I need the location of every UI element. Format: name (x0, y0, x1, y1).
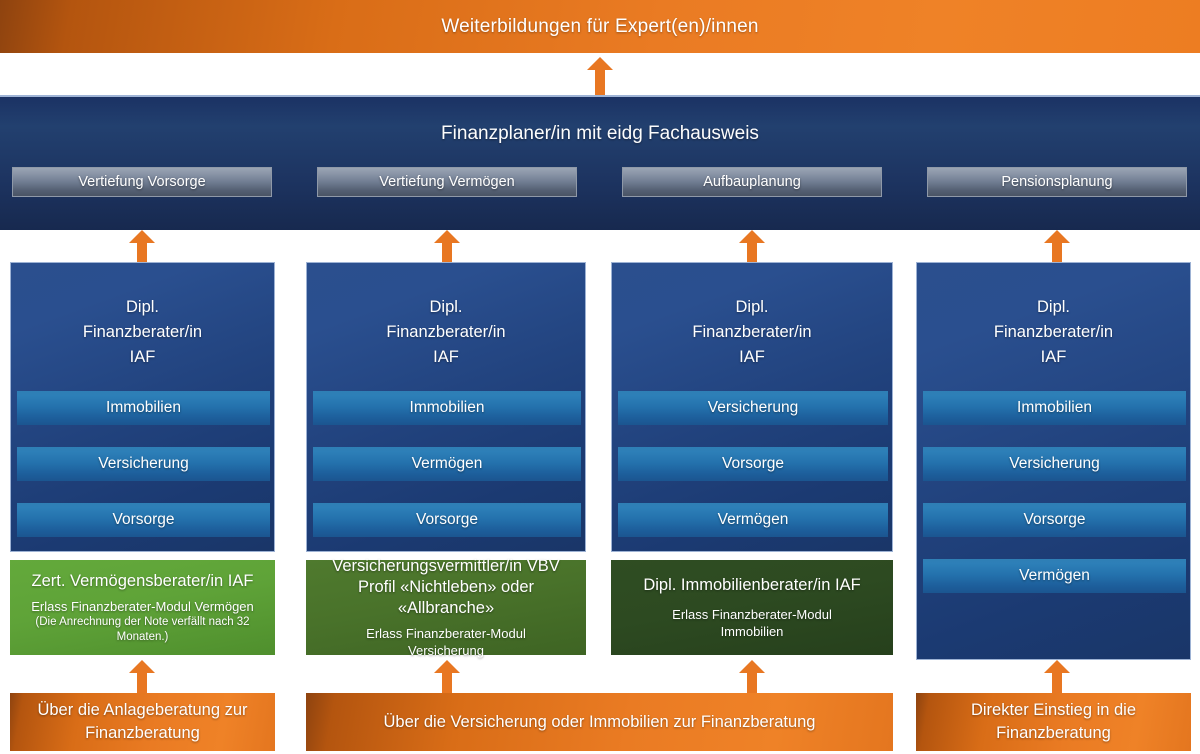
arrow-stem (595, 70, 605, 95)
module-bar[interactable]: Vorsorge (618, 447, 888, 481)
top-banner: Weiterbildungen für Expert(en)/innen (0, 0, 1200, 53)
column-title: Dipl. Finanzberater/in IAF (612, 295, 892, 370)
module-label: Vorsorge (112, 511, 174, 529)
column-title: Dipl. Finanzberater/in IAF (917, 295, 1190, 370)
qualification-title: Dipl. Immobilienberater/in IAF (643, 575, 860, 596)
pill-label: Vertiefung Vorsorge (78, 174, 205, 190)
module-label: Vorsorge (722, 455, 784, 473)
arrow-stem (747, 673, 757, 695)
module-label: Versicherung (708, 399, 798, 417)
module-label: Vorsorge (416, 511, 478, 529)
column-title-line2: Finanzberater/in (307, 320, 585, 345)
arrow-head-icon (434, 230, 460, 243)
column-finanzberater-3: Dipl. Finanzberater/in IAF Versicherung … (611, 262, 893, 552)
column-title-line3: IAF (917, 345, 1190, 370)
entry-path-anlageberatung[interactable]: Über die Anlageberatung zur Finanzberatu… (10, 693, 275, 751)
arrow-head-icon (739, 660, 765, 673)
arrow-head-icon (739, 230, 765, 243)
module-bar[interactable]: Versicherung (17, 447, 270, 481)
entry-path-label: Über die Versicherung oder Immobilien zu… (384, 711, 816, 734)
pill-label: Aufbauplanung (703, 174, 801, 190)
diagram-canvas: Weiterbildungen für Expert(en)/innen Fin… (0, 0, 1200, 754)
column-finanzberater-2: Dipl. Finanzberater/in IAF Immobilien Ve… (306, 262, 586, 552)
pill-aufbauplanung[interactable]: Aufbauplanung (622, 167, 882, 197)
module-bar[interactable]: Immobilien (17, 391, 270, 425)
entry-path-label: Direkter Einstieg in die Finanzberatung (916, 699, 1191, 745)
module-label: Vermögen (1019, 567, 1090, 585)
arrow-head-icon (1044, 230, 1070, 243)
module-label: Vorsorge (1023, 511, 1085, 529)
column-title-line2: Finanzberater/in (917, 320, 1190, 345)
column-title-line2: Finanzberater/in (612, 320, 892, 345)
module-label: Immobilien (106, 399, 181, 417)
qualification-sub1: Erlass Finanzberater-Modul (366, 625, 526, 642)
specialization-pill-row: Vertiefung Vorsorge Vertiefung Vermögen … (0, 167, 1200, 197)
arrow-head-icon (587, 57, 613, 70)
qualification-zert-vermoegensberater[interactable]: Zert. Vermögensberater/in IAF Erlass Fin… (10, 560, 275, 655)
module-label: Immobilien (1017, 399, 1092, 417)
column-title: Dipl. Finanzberater/in IAF (307, 295, 585, 370)
arrow-head-icon (1044, 660, 1070, 673)
arrow-up-entry2-left (434, 660, 460, 695)
arrow-up-to-weiterbildungen (587, 57, 613, 95)
qualification-sub2: Immobilien (721, 623, 784, 640)
entry-path-versicherung-immobilien[interactable]: Über die Versicherung oder Immobilien zu… (306, 693, 893, 751)
module-bar[interactable]: Immobilien (313, 391, 581, 425)
module-label: Versicherung (1009, 455, 1099, 473)
module-label: Versicherung (98, 455, 188, 473)
qualification-versicherungsvermittler-vbv[interactable]: Versicherungsvermittler/in VBV Profil «N… (306, 560, 586, 655)
arrow-stem (442, 673, 452, 695)
arrow-stem (137, 673, 147, 695)
column-title-line1: Dipl. (11, 295, 274, 320)
module-bar[interactable]: Vorsorge (923, 503, 1186, 537)
module-bar[interactable]: Vermögen (618, 503, 888, 537)
module-bar[interactable]: Vorsorge (17, 503, 270, 537)
pill-vertiefung-vermoegen[interactable]: Vertiefung Vermögen (317, 167, 577, 197)
column-title-line3: IAF (11, 345, 274, 370)
module-bar[interactable]: Versicherung (618, 391, 888, 425)
column-title: Dipl. Finanzberater/in IAF (11, 295, 274, 370)
arrow-up-col1-to-planner (129, 230, 155, 265)
arrow-head-icon (129, 660, 155, 673)
top-banner-title: Weiterbildungen für Expert(en)/innen (441, 16, 758, 38)
column-title-line1: Dipl. (307, 295, 585, 320)
arrow-stem (1052, 673, 1062, 695)
column-title-line1: Dipl. (917, 295, 1190, 320)
module-bar[interactable]: Immobilien (923, 391, 1186, 425)
arrow-up-entry2-right (739, 660, 765, 695)
finanzplaner-title: Finanzplaner/in mit eidg Fachausweis (0, 123, 1200, 145)
arrow-up-col2-to-planner (434, 230, 460, 265)
module-bar[interactable]: Vermögen (923, 559, 1186, 593)
arrow-up-col3-to-planner (739, 230, 765, 265)
module-label: Vermögen (718, 511, 789, 529)
column-title-line1: Dipl. (612, 295, 892, 320)
pill-label: Vertiefung Vermögen (379, 174, 514, 190)
module-bar[interactable]: Versicherung (923, 447, 1186, 481)
arrow-head-icon (129, 230, 155, 243)
entry-path-direkter-einstieg[interactable]: Direkter Einstieg in die Finanzberatung (916, 693, 1191, 751)
qualification-sub2: Versicherung (408, 642, 484, 659)
arrow-head-icon (434, 660, 460, 673)
column-finanzberater-4: Dipl. Finanzberater/in IAF Immobilien Ve… (916, 262, 1191, 660)
column-title-line2: Finanzberater/in (11, 320, 274, 345)
column-finanzberater-1: Dipl. Finanzberater/in IAF Immobilien Ve… (10, 262, 275, 552)
pill-vertiefung-vorsorge[interactable]: Vertiefung Vorsorge (12, 167, 272, 197)
entry-path-label: Über die Anlageberatung zur Finanzberatu… (10, 699, 275, 745)
arrow-up-entry1 (129, 660, 155, 695)
module-bar[interactable]: Vorsorge (313, 503, 581, 537)
pill-label: Pensionsplanung (1001, 174, 1112, 190)
arrow-up-col4-to-planner (1044, 230, 1070, 265)
qualification-title: Zert. Vermögensberater/in IAF (32, 571, 254, 592)
module-label: Vermögen (412, 455, 483, 473)
qualification-title-line2: Profil «Nichtleben» oder «Allbranche» (312, 577, 580, 619)
finanzplaner-band: Finanzplaner/in mit eidg Fachausweis Ver… (0, 95, 1200, 230)
qualification-title: Versicherungsvermittler/in VBV (332, 556, 559, 577)
column-title-line3: IAF (307, 345, 585, 370)
qualification-sub1: Erlass Finanzberater-Modul (672, 606, 832, 623)
module-bar[interactable]: Vermögen (313, 447, 581, 481)
qualification-sub1: Erlass Finanzberater-Modul Vermögen (31, 598, 254, 615)
module-label: Immobilien (410, 399, 485, 417)
qualification-sub2: (Die Anrechnung der Note verfällt nach 3… (16, 615, 269, 645)
arrow-up-entry3 (1044, 660, 1070, 695)
column-title-line3: IAF (612, 345, 892, 370)
pill-pensionsplanung[interactable]: Pensionsplanung (927, 167, 1187, 197)
qualification-dipl-immobilienberater[interactable]: Dipl. Immobilienberater/in IAF Erlass Fi… (611, 560, 893, 655)
